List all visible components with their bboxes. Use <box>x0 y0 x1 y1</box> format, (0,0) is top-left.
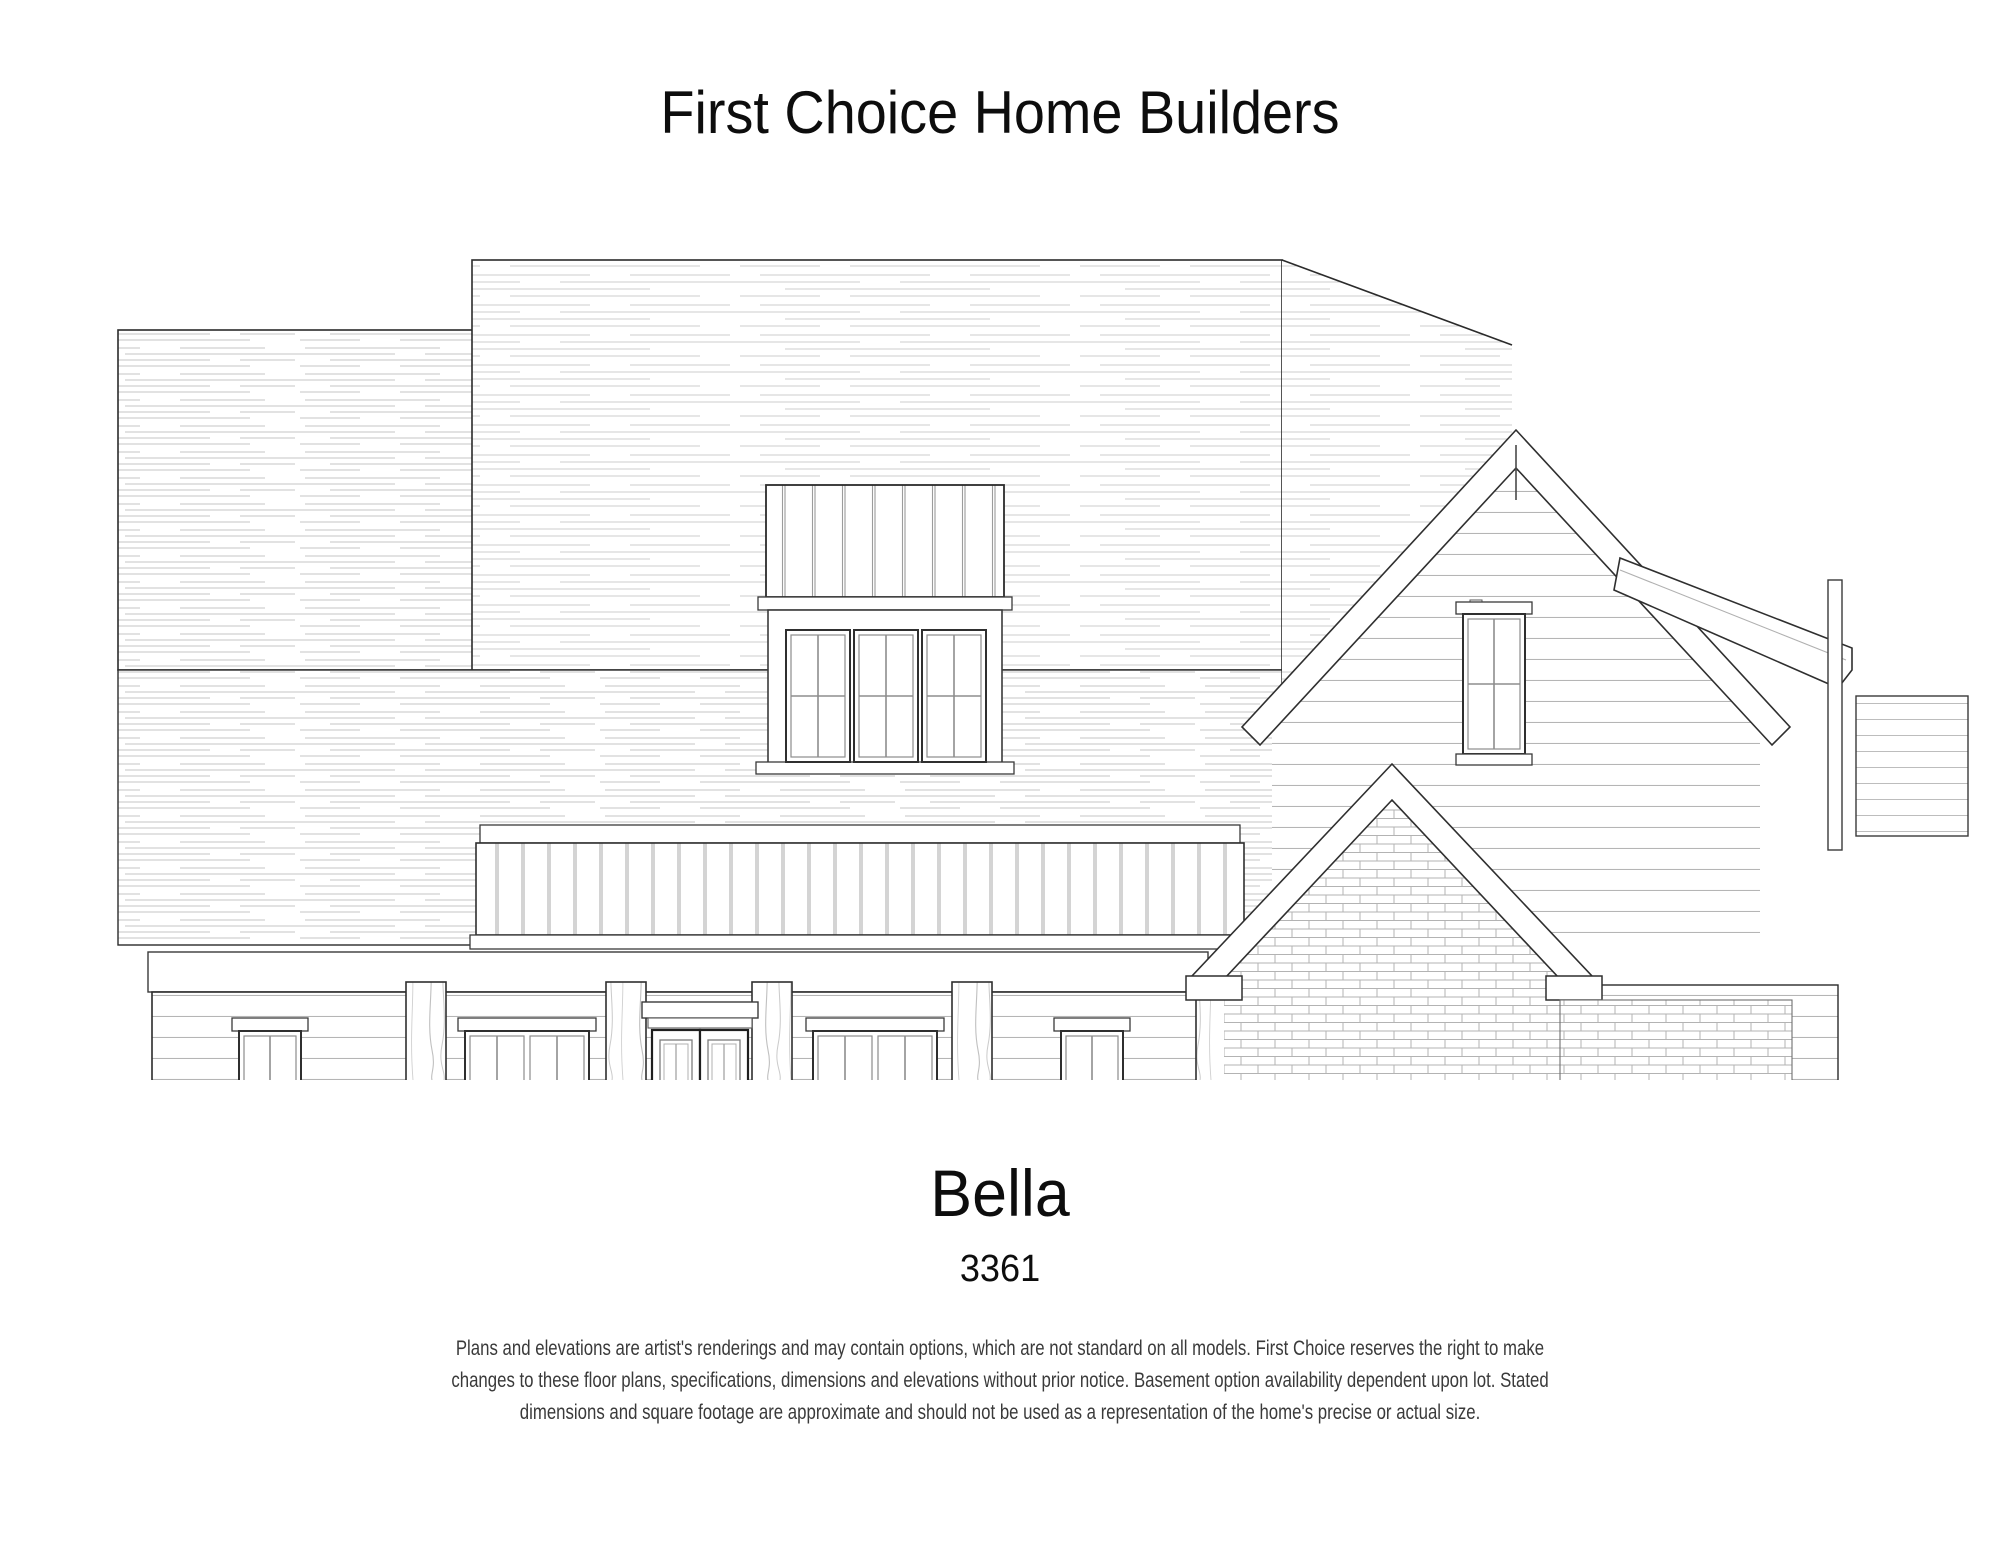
left-roof-wing <box>118 330 488 670</box>
plan-number: 3361 <box>50 1248 1950 1291</box>
dormer-window-3 <box>922 630 986 762</box>
right-brick-wall <box>1560 1000 1792 1080</box>
porch-column-right <box>952 982 992 1080</box>
disclaimer: Plans and elevations are artist's render… <box>424 1333 1576 1429</box>
elevation-drawing <box>0 240 2000 1080</box>
disclaimer-text: Plans and elevations are artist's render… <box>424 1333 1576 1429</box>
porch-column-left <box>406 982 446 1080</box>
porch-right-window-pair <box>806 1018 944 1080</box>
dormer-window-1 <box>786 630 850 762</box>
porch-left-window-pair <box>458 1018 596 1080</box>
gable-window <box>1456 600 1532 765</box>
shed-dormer <box>756 485 1014 774</box>
page-title: First Choice Home Builders <box>70 78 1930 147</box>
porch-column-mid-right <box>752 982 792 1080</box>
porch-frieze-band <box>470 825 1252 949</box>
drawing-page: First Choice Home Builders <box>0 0 2000 1545</box>
porch-column-mid-left <box>606 982 646 1080</box>
right-main-window <box>1054 1018 1130 1080</box>
plan-name: Bella <box>50 1155 1950 1231</box>
front-double-door[interactable] <box>642 1002 758 1080</box>
elevation-svg <box>0 240 2000 1080</box>
dormer-window-2 <box>854 630 918 762</box>
left-window <box>232 1018 308 1080</box>
